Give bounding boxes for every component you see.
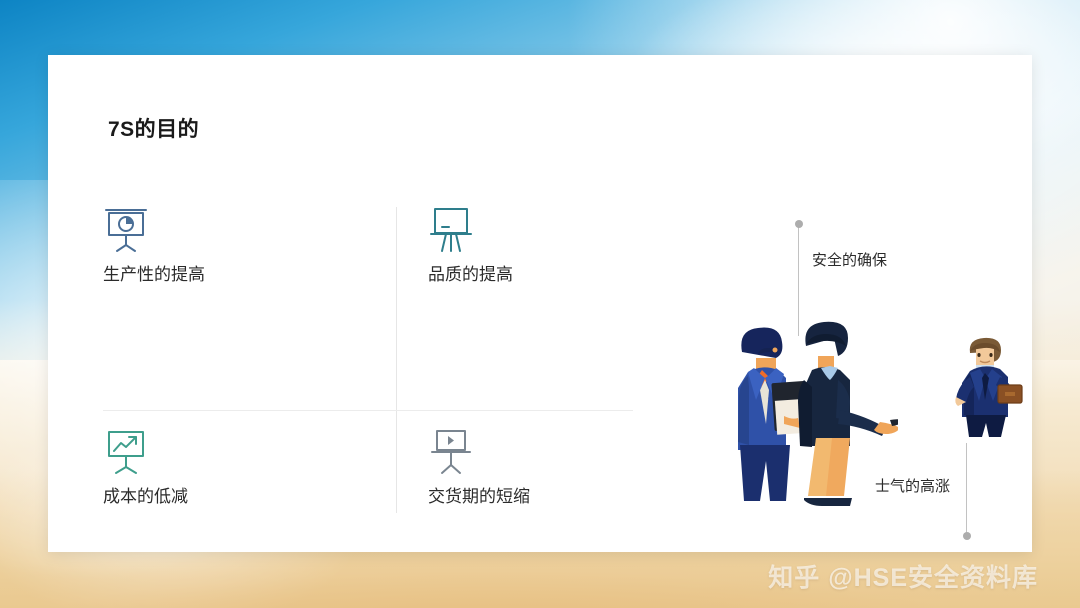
benefits-grid: 生产性的提高 品质的提高: [103, 205, 633, 515]
benefit-item-productivity[interactable]: 生产性的提高: [103, 205, 383, 285]
callout-connector-line: [966, 443, 967, 538]
callout-label: 安全的确保: [812, 249, 887, 270]
projector-pie-chart-icon: [103, 205, 383, 255]
callout-dot: [963, 532, 971, 540]
grid-vertical-divider: [396, 207, 397, 513]
page-title: 7S的目的: [108, 113, 199, 143]
illustration-area: 安全的确保 士气的高涨: [648, 150, 1028, 550]
projector-growth-chart-icon: [103, 427, 383, 477]
slide-card: 7S的目的 生产性的提高: [48, 55, 1032, 552]
grid-horizontal-divider: [103, 410, 633, 411]
benefit-item-label: 生产性的提高: [103, 265, 383, 285]
businessman-with-briefcase-illustration: [946, 333, 1024, 442]
benefit-item-cost[interactable]: 成本的低减: [103, 427, 383, 507]
benefit-item-label: 成本的低减: [103, 487, 383, 507]
two-business-people-illustration: [718, 310, 898, 515]
callout-dot: [795, 220, 803, 228]
